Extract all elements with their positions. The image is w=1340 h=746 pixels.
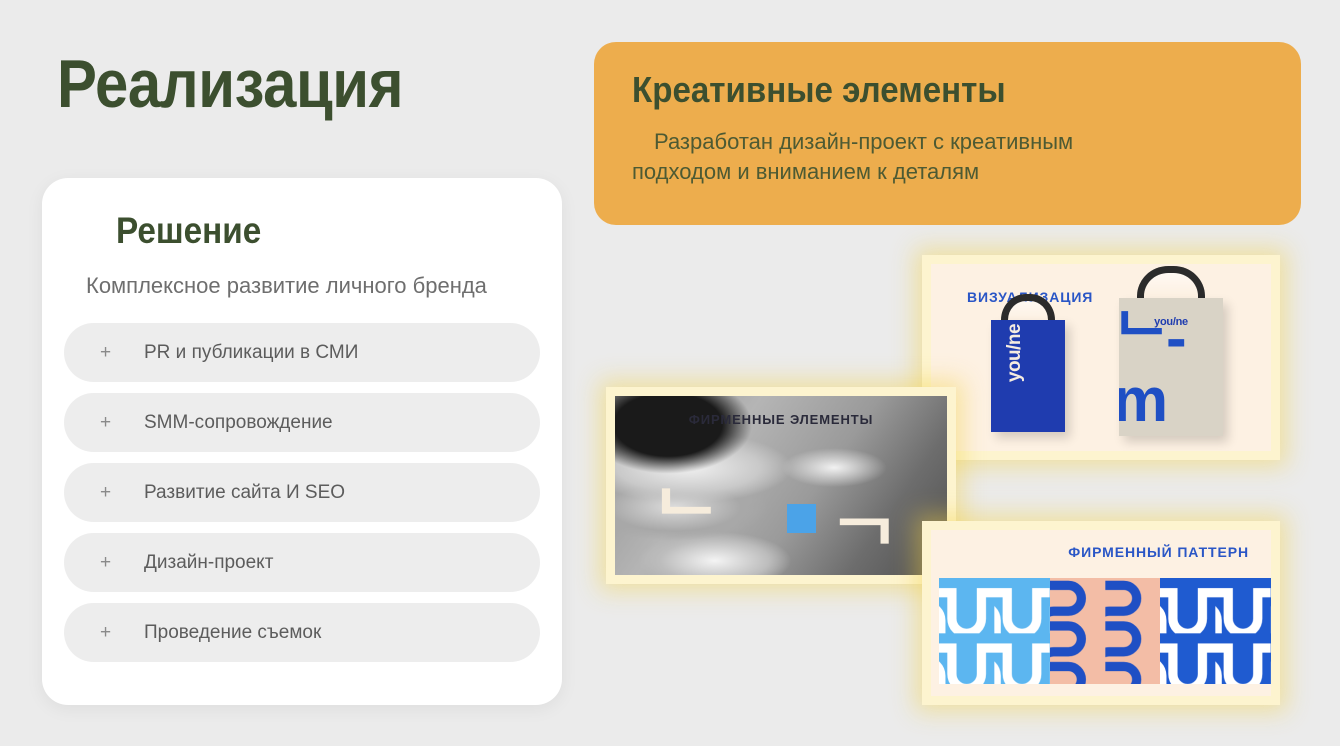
- plus-icon: +: [100, 553, 144, 572]
- tote-bag-beige: you/ne ᄂ-m: [1119, 298, 1223, 436]
- bag-brand-mark: ᄂ-m: [1119, 308, 1223, 432]
- brand-glyph-left-icon: ᄂ: [652, 484, 721, 552]
- visualization-card[interactable]: ВИЗУАЛИЗАЦИЯ you/ne you/ne ᄂ-m: [922, 255, 1280, 460]
- brand-elements-label: ФИРМЕННЫЕ ЭЛЕМЕНТЫ: [689, 412, 874, 427]
- solution-heading: Решение: [116, 209, 498, 253]
- bag-brand-text: you/ne: [1004, 320, 1026, 405]
- bag-body: you/ne: [991, 320, 1065, 432]
- pattern-panel-light-blue: [939, 578, 1050, 684]
- list-item[interactable]: + Развитие сайта И SEO: [64, 463, 540, 522]
- list-item[interactable]: + PR и публикации в СМИ: [64, 323, 540, 382]
- pattern-wave-icon: [1050, 578, 1161, 684]
- plus-icon: +: [100, 413, 144, 432]
- list-item-label: SMM-сопровождение: [144, 412, 333, 434]
- brand-elements-card[interactable]: ФИРМЕННЫЕ ЭЛЕМЕНТЫ ᄂ ᄂ: [606, 387, 956, 584]
- creative-heading: Креативные элементы: [632, 68, 1220, 112]
- list-item[interactable]: + SMM-сопровождение: [64, 393, 540, 452]
- visualization-inner: ВИЗУАЛИЗАЦИЯ you/ne you/ne ᄂ-m: [931, 264, 1271, 451]
- list-item-label: Проведение съемок: [144, 622, 321, 644]
- solution-subtitle: Комплексное развитие личного бренда: [86, 271, 540, 301]
- pattern-panel-deep-blue: [1160, 578, 1271, 684]
- brand-pattern-label: ФИРМЕННЫЙ ПАТТЕРН: [1068, 544, 1249, 560]
- page-title: Реализация: [57, 46, 403, 122]
- creative-subtitle: Разработан дизайн-проект с креативным по…: [632, 127, 1152, 187]
- plus-icon: +: [100, 623, 144, 642]
- blue-square-icon: [787, 504, 816, 533]
- pattern-inner: ФИРМЕННЫЙ ПАТТЕРН: [931, 530, 1271, 696]
- plus-icon: +: [100, 343, 144, 362]
- list-item-label: Дизайн-проект: [144, 552, 273, 574]
- brand-pattern-card[interactable]: ФИРМЕННЫЙ ПАТТЕРН: [922, 521, 1280, 705]
- creative-elements-card: Креативные элементы Разработан дизайн-пр…: [594, 42, 1301, 225]
- list-item[interactable]: + Проведение съемок: [64, 603, 540, 662]
- list-item-label: PR и публикации в СМИ: [144, 342, 358, 364]
- list-item[interactable]: + Дизайн-проект: [64, 533, 540, 592]
- pattern-strip: [939, 578, 1271, 684]
- plus-icon: +: [100, 483, 144, 502]
- tote-bag-blue: you/ne: [991, 320, 1065, 432]
- list-item-label: Развитие сайта И SEO: [144, 482, 345, 504]
- solution-item-list: + PR и публикации в СМИ + SMM-сопровожде…: [64, 323, 540, 662]
- pattern-wave-icon: [939, 578, 1050, 684]
- brand-glyph-right-icon: ᄂ: [830, 480, 899, 548]
- solution-card: Решение Комплексное развитие личного бре…: [42, 178, 562, 705]
- slide-root: Реализация Решение Комплексное развитие …: [0, 0, 1340, 746]
- bag-body: you/ne ᄂ-m: [1119, 298, 1223, 436]
- pattern-panel-peach: [1050, 578, 1161, 684]
- pattern-wave-icon: [1160, 578, 1271, 684]
